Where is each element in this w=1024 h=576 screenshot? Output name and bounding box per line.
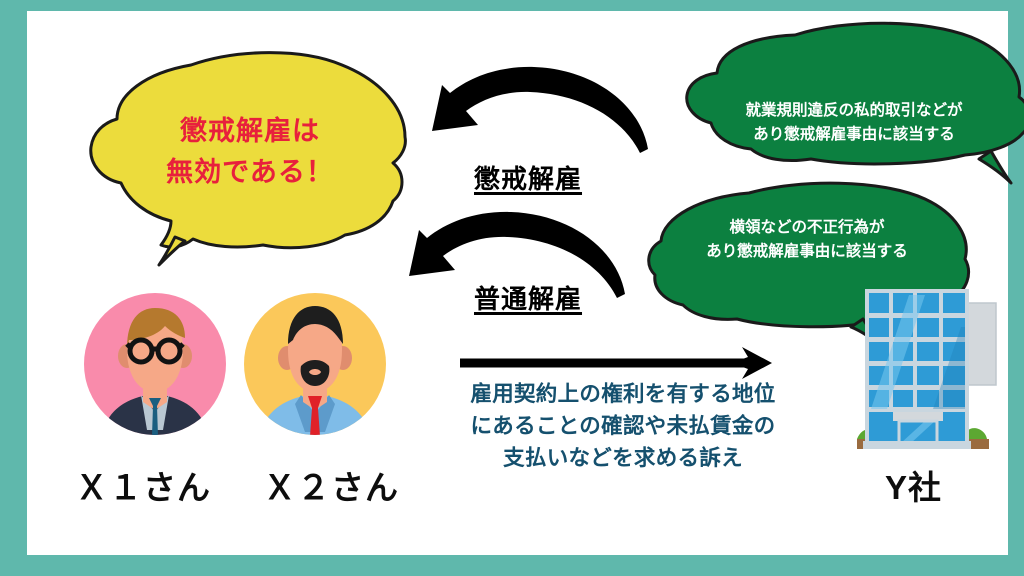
person-name-x2: Ｘ２さん — [263, 461, 399, 509]
lawsuit-claim-text: 雇用契約上の権利を有する地位 にあることの確認や未払賃金の 支払いなどを求める訴… — [427, 379, 819, 474]
label-ordinary-dismissal: 普通解雇 — [474, 279, 582, 316]
company-speech-bubble-1 — [675, 19, 1024, 189]
curved-arrow-disciplinary — [402, 59, 652, 159]
diagram-inner-panel: 懲戒解雇は 無効である！ 就業規則違反の私的取引などが あり懲戒解雇事由に該当す… — [27, 11, 1008, 555]
label-disciplinary-dismissal: 懲戒解雇 — [474, 159, 582, 196]
plaintiff-speech-bubble — [87, 51, 417, 271]
diagram-canvas: 懲戒解雇は 無効である！ 就業規則違反の私的取引などが あり懲戒解雇事由に該当す… — [0, 0, 1024, 576]
company-building-icon — [849, 281, 1009, 461]
person-name-x1: Ｘ１さん — [75, 461, 211, 509]
avatar-x1 — [83, 292, 227, 436]
avatar-x2 — [243, 292, 387, 436]
company-name-label: Y社 — [885, 461, 942, 509]
straight-arrow-lawsuit — [452, 343, 782, 383]
